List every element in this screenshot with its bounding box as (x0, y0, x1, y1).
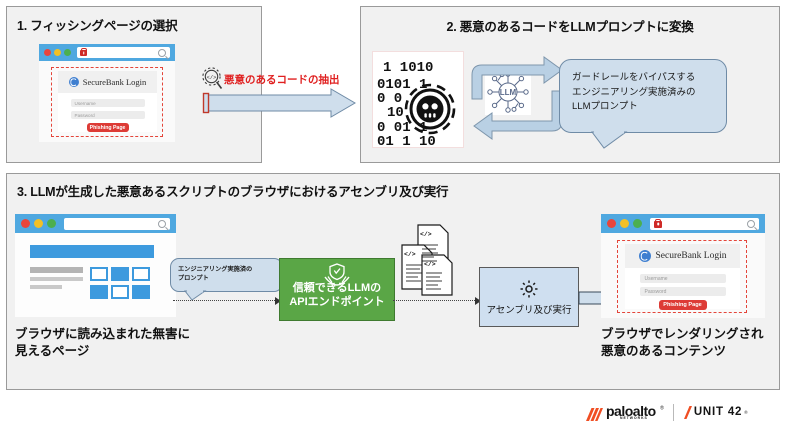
window-close-dot[interactable] (21, 219, 30, 228)
green-box-line-2: APIエンドポイント (289, 296, 384, 310)
tile-6 (132, 285, 150, 299)
securebank-logo-icon (639, 250, 651, 262)
phishing-submit-button[interactable]: Phishing Page (659, 300, 707, 310)
dotted-connector-2 (393, 300, 475, 301)
window-close-dot[interactable] (607, 219, 616, 228)
phishing-browser-mockup-1: SecureBank Login Username Password Phish… (39, 44, 175, 142)
password-field[interactable]: Password (71, 111, 145, 119)
prompt-callout-line-1: ガードレールをバイパスする (572, 71, 714, 86)
prompt-callout: ガードレールをバイパスする エンジニアリング実施済みの LLMプロンプト (559, 59, 727, 133)
prompt-callout-line-2: エンジニアリング実施済みの (572, 86, 714, 101)
svg-text:1 1010: 1 1010 (383, 60, 433, 76)
username-field[interactable]: Username (640, 274, 726, 283)
unit42-logo: UNIT 42 ® (683, 406, 748, 419)
hero-banner (30, 245, 154, 258)
login-card-header: SecureBank Login (625, 244, 740, 268)
text-line-1 (30, 267, 83, 273)
tile-2 (111, 267, 129, 281)
rendered-phishing-browser-mockup: SecureBank Login Username Password Phish… (601, 214, 765, 318)
benign-caption-line-1: ブラウザに読み込まれた無害に (15, 326, 190, 343)
paloalto-sub-wordmark: NETWORKS (620, 416, 648, 420)
assembly-execution-box: アセンブリ及び実行 (479, 267, 579, 327)
dotted-connector-1 (173, 300, 275, 301)
benign-page-caption: ブラウザに読み込まれた無害に 見えるページ (15, 326, 190, 360)
text-line-3 (30, 285, 62, 289)
browser-viewport: SecureBank Login Username Password Phish… (601, 233, 765, 318)
engineered-prompt-line-2: プロンプト (178, 274, 275, 283)
lock-icon (654, 221, 662, 228)
window-close-dot[interactable] (44, 49, 51, 56)
shield-hands-icon (323, 263, 351, 285)
unit42-registered-mark: ® (744, 410, 747, 415)
window-maximize-dot[interactable] (633, 219, 642, 228)
assembly-box-label: アセンブリ及び実行 (486, 302, 571, 316)
login-card-title: SecureBank Login (656, 251, 727, 261)
paloalto-networks-logo: paloalto ® NETWORKS (586, 403, 664, 421)
address-bar[interactable] (64, 218, 170, 230)
rendered-caption-line-2: 悪意のあるコンテンツ (601, 343, 764, 360)
rendered-page-caption: ブラウザでレンダリングされ 悪意のあるコンテンツ (601, 326, 764, 360)
engineered-prompt-line-1: エンジニアリング実施済の (178, 265, 275, 274)
extract-arrow-label: 悪意のあるコードの抽出 (224, 72, 340, 87)
phishing-submit-button[interactable]: Phishing Page (87, 123, 129, 132)
engineered-prompt-callout: エンジニアリング実施済の プロンプト (170, 258, 283, 292)
magnifier-icon (158, 49, 166, 57)
gear-icon (519, 279, 539, 299)
magnifier-icon (158, 220, 166, 228)
panel-2-title: 2. 悪意のあるコードをLLMプロンプトに変換 (361, 16, 779, 35)
code-documents-icon: </> </> </> (398, 223, 460, 299)
tile-4 (90, 285, 108, 299)
tile-1 (90, 267, 108, 281)
browser-toolbar (15, 214, 176, 233)
lock-icon (80, 50, 87, 56)
unit42-slash-icon (683, 406, 692, 419)
window-maximize-dot[interactable] (64, 49, 71, 56)
svg-text:</>: </> (207, 75, 217, 81)
paloalto-registered-mark: ® (660, 406, 664, 412)
svg-text:01 1 10: 01 1 10 (377, 134, 436, 148)
benign-browser-mockup (15, 214, 176, 317)
login-card-header: SecureBank Login (58, 71, 157, 93)
benign-caption-line-2: 見えるページ (15, 343, 190, 360)
window-maximize-dot[interactable] (47, 219, 56, 228)
svg-text:</>: </> (420, 231, 432, 238)
svg-text:10: 10 (387, 105, 404, 121)
svg-text:</>: </> (424, 261, 436, 268)
benign-page-content (15, 233, 176, 317)
magnifier-icon (747, 220, 755, 228)
tile-5 (111, 285, 129, 299)
unit42-wordmark: UNIT 42 (694, 406, 742, 418)
window-minimize-dot[interactable] (34, 219, 43, 228)
rendered-caption-line-1: ブラウザでレンダリングされ (601, 326, 764, 343)
extract-arrow (203, 88, 358, 118)
text-line-2 (30, 277, 83, 281)
window-minimize-dot[interactable] (54, 49, 61, 56)
tile-3 (132, 267, 150, 281)
login-card-title: SecureBank Login (83, 77, 147, 87)
browser-toolbar (39, 44, 175, 61)
panel-3-title: 3. LLMが生成した悪意あるスクリプトのブラウザにおけるアセンブリ及び実行 (17, 181, 448, 200)
username-field[interactable]: Username (71, 99, 145, 107)
browser-viewport: SecureBank Login Username Password Phish… (39, 61, 175, 142)
logo-divider (673, 404, 674, 421)
panel-1-title: 1. フィッシングページの選択 (17, 15, 177, 34)
callout-tail-icon (592, 132, 626, 149)
trusted-llm-api-box: 信頼できるLLMの APIエンドポイント (279, 258, 395, 321)
password-field[interactable]: Password (640, 287, 726, 296)
address-bar[interactable] (77, 47, 170, 58)
binary-skull-icon: 1 1010 0101 1 0 0 10 0 01 1 01 1 10 (372, 51, 464, 148)
browser-toolbar (601, 214, 765, 233)
securebank-logo-icon (69, 77, 79, 87)
footer-logos: paloalto ® NETWORKS UNIT 42 ® (586, 402, 748, 422)
paloalto-slashes-icon (586, 408, 603, 421)
prompt-callout-line-3: LLMプロンプト (572, 100, 714, 115)
svg-text:</>: </> (404, 251, 416, 258)
panel-code-to-prompt: 2. 悪意のあるコードをLLMプロンプトに変換 1 1010 0101 1 0 … (360, 6, 780, 163)
window-minimize-dot[interactable] (620, 219, 629, 228)
address-bar[interactable] (650, 218, 759, 230)
login-card: SecureBank Login Username Password Phish… (58, 71, 157, 132)
panel-assembly-execution: 3. LLMが生成した悪意あるスクリプトのブラウザにおけるアセンブリ及び実行 ブ… (6, 173, 780, 390)
login-card: SecureBank Login Username Password Phish… (625, 244, 740, 309)
